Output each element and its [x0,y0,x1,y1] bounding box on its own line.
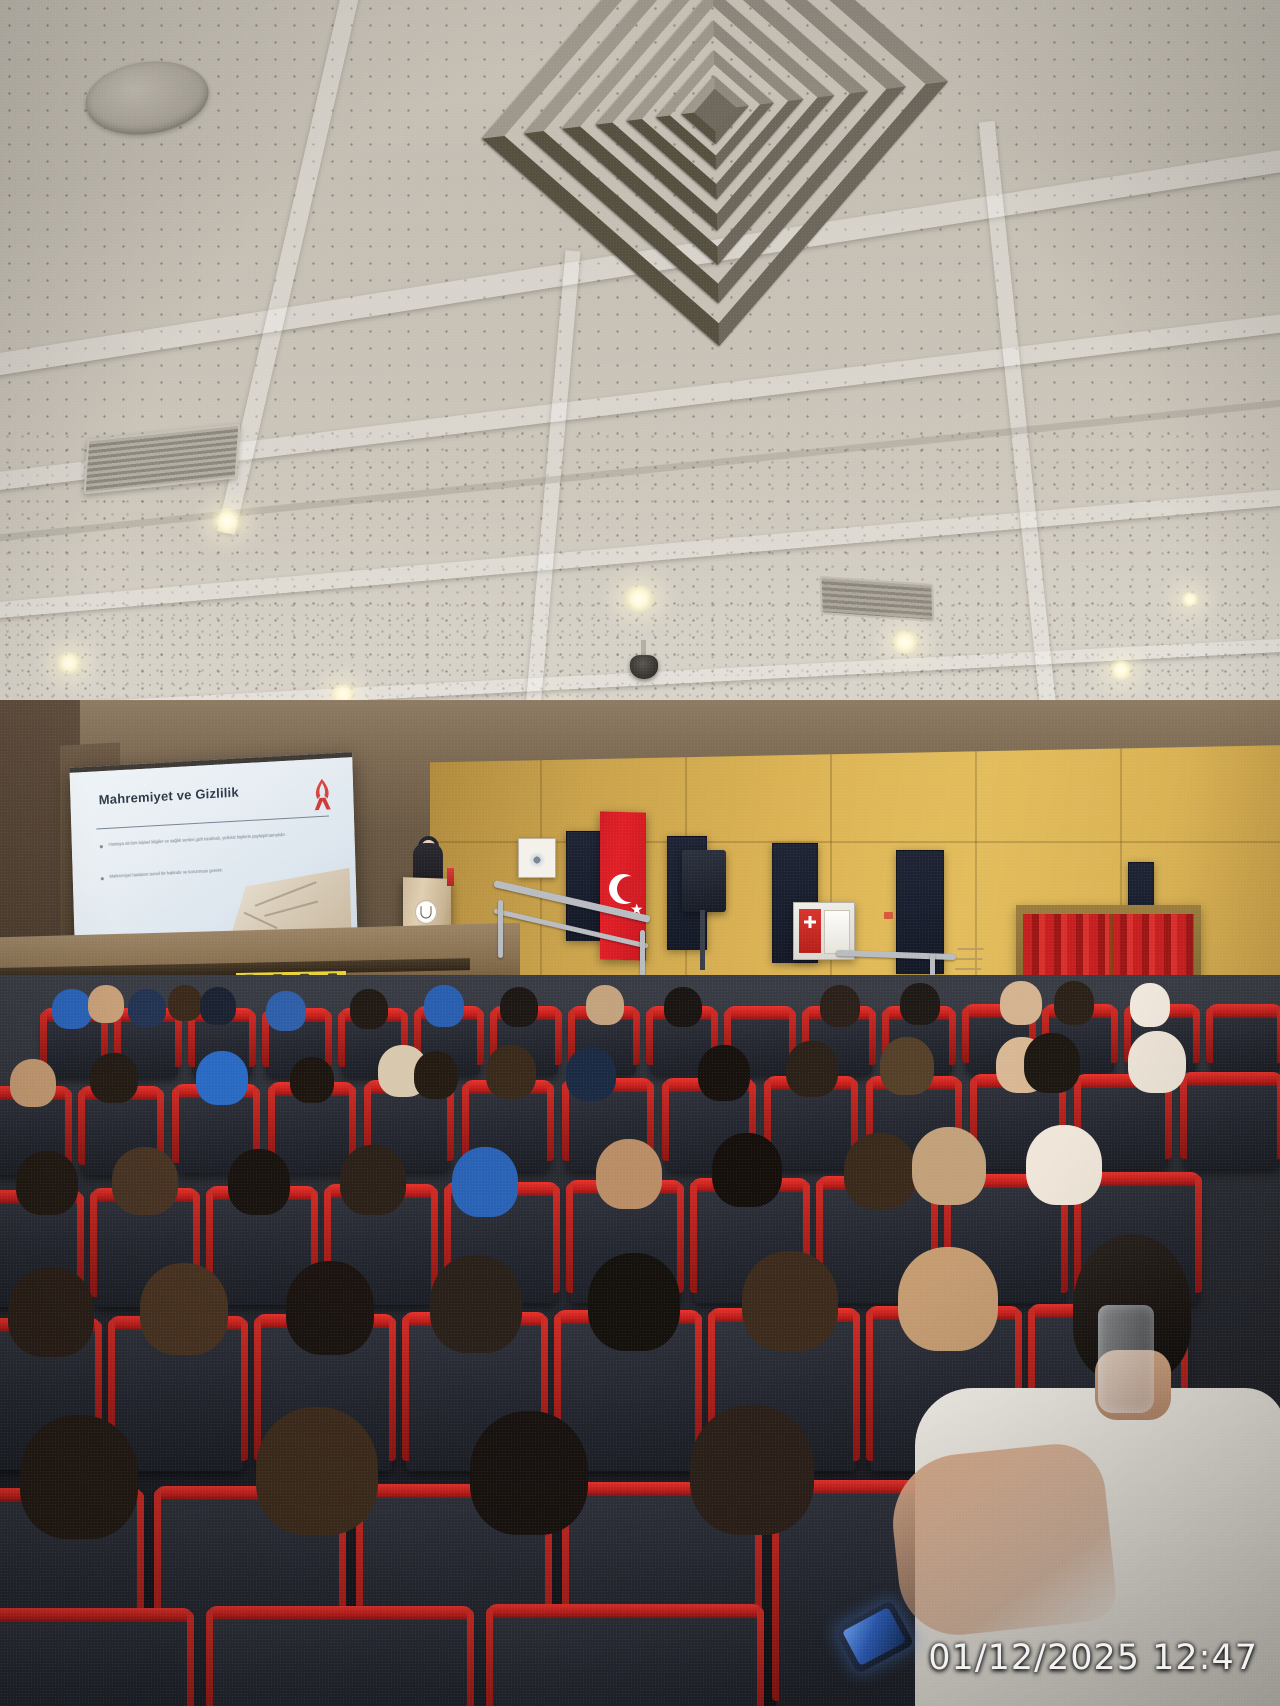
stage-handrail-post [640,930,645,976]
first-aid-cross-icon [799,909,821,953]
auditorium-seat[interactable] [490,1611,760,1706]
framed-wall-picture [518,838,556,878]
audience-seating-area [0,975,1280,1706]
pa-speaker-box [682,850,726,912]
auditorium-seat[interactable] [1184,1079,1280,1169]
auditorium-seat[interactable] [1210,1011,1280,1073]
speaker-stand [700,910,705,970]
timestamp-overlay: 01/12/2025 12:47 [928,1638,1258,1678]
microphone-flag [447,868,454,886]
recessed-downlight [210,508,244,534]
recessed-downlight [1108,660,1134,680]
projection-screen: Mahremiyet ve Gizlilik Hastaya ait tüm k… [70,752,358,951]
cabinet-panel [824,910,850,954]
acoustic-wall-panel [566,831,604,941]
ceiling-dome-camera [630,655,658,679]
water-bottle[interactable] [1098,1305,1154,1413]
recessed-downlight [622,585,656,612]
recessed-downlight [55,652,83,674]
foreground-attendee-with-phone [905,1190,1280,1706]
rectangular-ceiling-vent [819,576,934,622]
attendee-arm [886,1439,1119,1640]
recessed-downlight [890,630,920,654]
podium-emblem-icon [415,900,437,924]
crescent-icon [609,874,639,905]
auditorium-seat[interactable] [0,1615,190,1706]
exit-sign-icon [884,912,893,919]
auditorium-seat[interactable] [210,1613,470,1706]
red-awareness-ribbon-icon [311,776,334,811]
stage-handrail-post [498,900,503,958]
ceiling [0,0,1280,790]
auditorium-photo: ★ Mahremiyet ve Gizlilik Hastaya ait tüm… [0,0,1280,1706]
recessed-downlight [1180,592,1200,607]
